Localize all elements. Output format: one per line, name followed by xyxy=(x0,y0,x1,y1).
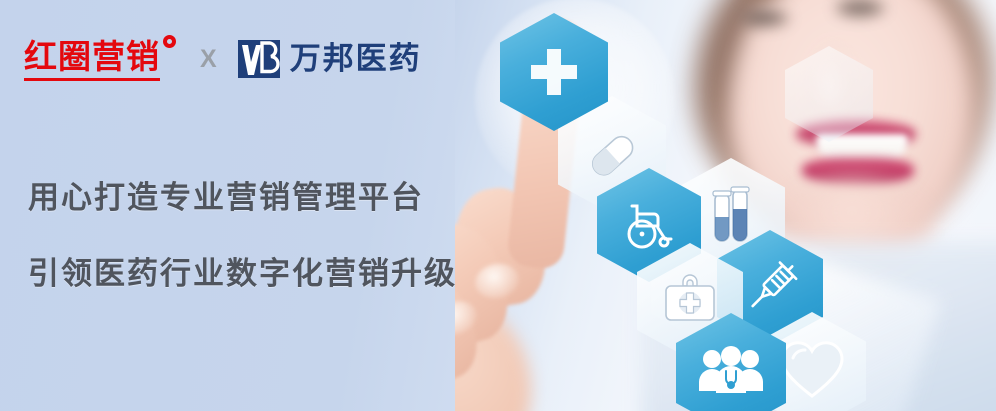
hongquan-marketing-logo[interactable]: 红圈营销 xyxy=(24,37,176,81)
headline-secondary: 引领医药行业数字化营销升级 xyxy=(28,254,457,294)
eye-left xyxy=(738,8,790,28)
degree-circle-icon xyxy=(163,35,176,48)
logo-separator: X xyxy=(200,39,217,79)
hongquan-marketing-logo-text: 红圈营销 xyxy=(24,37,160,81)
headline-primary: 用心打造专业营销管理平台 xyxy=(28,178,457,218)
medical-touch-interface-photo xyxy=(455,0,996,411)
wanbang-pharma-logo[interactable]: 万邦医药 xyxy=(237,38,422,80)
headline-block: 用心打造专业营销管理平台 引领医药行业数字化营销升级 xyxy=(28,178,457,294)
marketing-banner: 红圈营销 X 万邦医药 用心打造专业营销管理平台 引领医药行业数字化营销升级 xyxy=(0,0,996,411)
wb-monogram-icon xyxy=(237,38,281,80)
wanbang-pharma-logo-text: 万邦医药 xyxy=(290,40,422,78)
logo-row: 红圈营销 X 万邦医药 xyxy=(24,30,422,88)
